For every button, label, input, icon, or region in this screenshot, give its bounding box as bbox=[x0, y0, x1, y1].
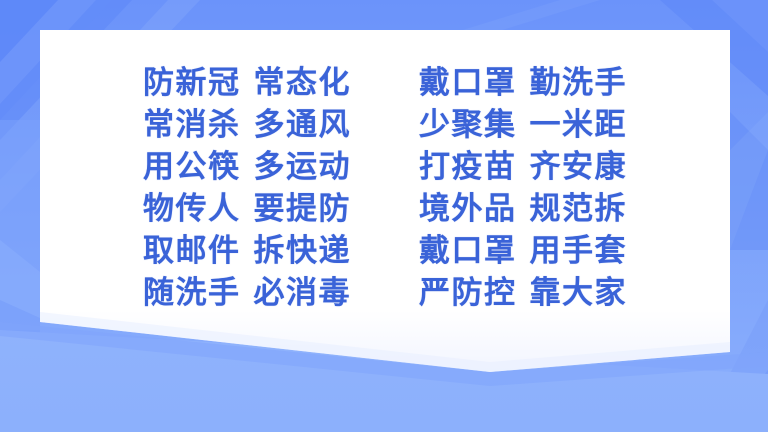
slogan-part-first: 少聚集 bbox=[419, 104, 517, 146]
slogan-row: 用公筷 多运动 bbox=[143, 146, 351, 188]
slogan-part-first: 严防控 bbox=[419, 272, 517, 314]
slogan-row: 少聚集 一米距 bbox=[419, 104, 627, 146]
slogan-row: 打疫苗 齐安康 bbox=[419, 146, 627, 188]
slogan-part-first: 随洗手 bbox=[143, 272, 241, 314]
slogan-part-second: 必消毒 bbox=[254, 272, 352, 314]
slogan-part-first: 戴口罩 bbox=[419, 230, 517, 272]
slogan-part-second: 规范拆 bbox=[530, 188, 628, 230]
slogan-part-second: 常态化 bbox=[254, 62, 352, 104]
slogan-row: 常消杀 多通风 bbox=[143, 104, 351, 146]
slogan-part-first: 境外品 bbox=[419, 188, 517, 230]
slogan-row: 境外品 规范拆 bbox=[419, 188, 627, 230]
slogan-part-second: 多运动 bbox=[254, 146, 352, 188]
slogan-row: 严防控 靠大家 bbox=[419, 272, 627, 314]
slogan-part-first: 取邮件 bbox=[143, 230, 241, 272]
slogan-columns: 防新冠 常态化 常消杀 多通风 用公筷 多运动 物传人 要提防 取邮件 拆快 bbox=[40, 62, 730, 314]
slogan-row: 取邮件 拆快递 bbox=[143, 230, 351, 272]
slogan-part-first: 用公筷 bbox=[143, 146, 241, 188]
slogan-part-second: 一米距 bbox=[530, 104, 628, 146]
slogan-row: 防新冠 常态化 bbox=[143, 62, 351, 104]
slogan-part-first: 常消杀 bbox=[143, 104, 241, 146]
slogan-part-second: 要提防 bbox=[254, 188, 352, 230]
slogan-part-first: 戴口罩 bbox=[419, 62, 517, 104]
left-column: 防新冠 常态化 常消杀 多通风 用公筷 多运动 物传人 要提防 取邮件 拆快 bbox=[143, 62, 351, 314]
slogan-part-first: 打疫苗 bbox=[419, 146, 517, 188]
slogan-part-second: 靠大家 bbox=[530, 272, 628, 314]
slogan-part-second: 多通风 bbox=[254, 104, 352, 146]
slogan-part-first: 物传人 bbox=[143, 188, 241, 230]
slogan-row: 随洗手 必消毒 bbox=[143, 272, 351, 314]
slogan-part-second: 勤洗手 bbox=[530, 62, 628, 104]
slogan-row: 戴口罩 用手套 bbox=[419, 230, 627, 272]
slogan-row: 戴口罩 勤洗手 bbox=[419, 62, 627, 104]
slogan-part-second: 用手套 bbox=[530, 230, 628, 272]
slogan-part-first: 防新冠 bbox=[143, 62, 241, 104]
poster-canvas: 防新冠 常态化 常消杀 多通风 用公筷 多运动 物传人 要提防 取邮件 拆快 bbox=[0, 0, 768, 432]
slogan-row: 物传人 要提防 bbox=[143, 188, 351, 230]
slogan-part-second: 齐安康 bbox=[530, 146, 628, 188]
slogan-part-second: 拆快递 bbox=[254, 230, 352, 272]
right-column: 戴口罩 勤洗手 少聚集 一米距 打疫苗 齐安康 境外品 规范拆 戴口罩 用手 bbox=[419, 62, 627, 314]
